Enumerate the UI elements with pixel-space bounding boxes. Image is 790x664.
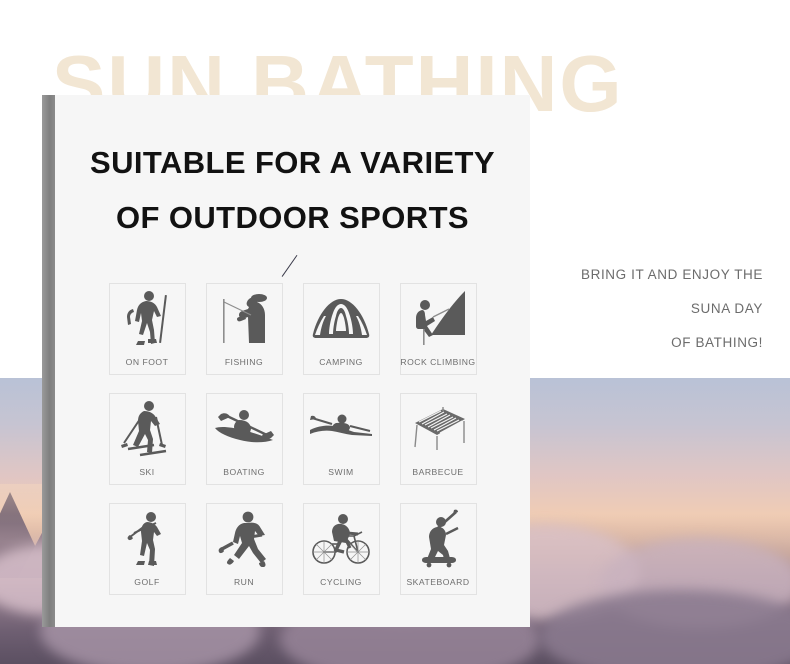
skier-icon bbox=[110, 394, 185, 458]
tagline-line-3: OF BATHING! bbox=[503, 326, 763, 360]
panel-title-line-2: OF OUTDOOR SPORTS bbox=[55, 190, 530, 245]
sport-label: SWIM bbox=[294, 467, 389, 477]
kayak-icon bbox=[207, 394, 282, 458]
fisherman-icon bbox=[207, 284, 282, 348]
sport-tile-camping[interactable]: CAMPING bbox=[303, 283, 380, 375]
skateboarder-icon bbox=[401, 504, 476, 568]
runner-icon bbox=[207, 504, 282, 568]
sport-label: CAMPING bbox=[294, 357, 389, 367]
sport-tile-on-foot[interactable]: ON FOOT bbox=[109, 283, 186, 375]
panel-edge-shadow bbox=[42, 95, 56, 627]
sport-label: ON FOOT bbox=[100, 357, 195, 367]
sport-label: FISHING bbox=[197, 357, 292, 367]
golfer-icon bbox=[110, 504, 185, 568]
tagline-line-1: BRING IT AND ENJOY THE bbox=[503, 258, 763, 292]
title-divider bbox=[55, 245, 530, 277]
sports-icon-grid: ON FOOT FISHING bbox=[99, 283, 487, 613]
rock-climber-icon bbox=[401, 284, 476, 348]
sport-label: ROCK CLIMBING bbox=[391, 357, 486, 367]
sport-label: CYCLING bbox=[294, 577, 389, 587]
sport-tile-golf[interactable]: GOLF bbox=[109, 503, 186, 595]
sport-label: BOATING bbox=[197, 467, 292, 477]
sport-label: SKI bbox=[100, 467, 195, 477]
sport-tile-boating[interactable]: BOATING bbox=[206, 393, 283, 485]
sport-tile-skateboard[interactable]: SKATEBOARD bbox=[400, 503, 477, 595]
sport-tile-ski[interactable]: SKI bbox=[109, 393, 186, 485]
sport-label: BARBECUE bbox=[391, 467, 486, 477]
grill-icon bbox=[401, 394, 476, 458]
diagonal-slash-icon bbox=[281, 255, 297, 277]
cyclist-icon bbox=[304, 504, 379, 568]
sport-tile-cycling[interactable]: CYCLING bbox=[303, 503, 380, 595]
sport-label: SKATEBOARD bbox=[391, 577, 486, 587]
sport-tile-rock-climbing[interactable]: ROCK CLIMBING bbox=[400, 283, 477, 375]
sport-label: GOLF bbox=[100, 577, 195, 587]
sport-tile-barbecue[interactable]: BARBECUE bbox=[400, 393, 477, 485]
panel-title-line-1: SUITABLE FOR A VARIETY bbox=[55, 135, 530, 190]
panel-title: SUITABLE FOR A VARIETY OF OUTDOOR SPORTS bbox=[55, 135, 530, 245]
tent-icon bbox=[304, 284, 379, 348]
hiker-icon bbox=[110, 284, 185, 348]
tagline-line-2: SUNA DAY bbox=[503, 292, 763, 326]
tagline-block: BRING IT AND ENJOY THE SUNA DAY OF BATHI… bbox=[503, 258, 763, 360]
sport-tile-fishing[interactable]: FISHING bbox=[206, 283, 283, 375]
sport-label: RUN bbox=[197, 577, 292, 587]
sport-tile-run[interactable]: RUN bbox=[206, 503, 283, 595]
sport-tile-swim[interactable]: SWIM bbox=[303, 393, 380, 485]
swimmer-icon bbox=[304, 394, 379, 458]
feature-panel: SUITABLE FOR A VARIETY OF OUTDOOR SPORTS… bbox=[55, 95, 530, 627]
